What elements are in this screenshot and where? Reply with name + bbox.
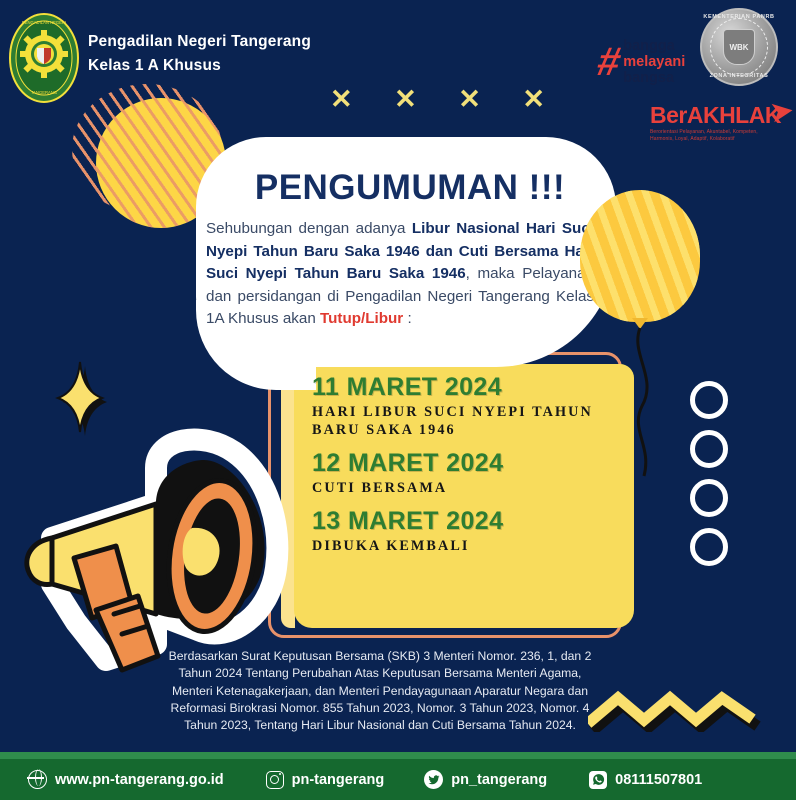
date-heading: 12 MARET 2024: [312, 448, 612, 479]
berakhlak-logo: BerAKHLAK ➤ Berorientasi Pelayanan, Akun…: [650, 104, 781, 143]
date-description: CUTI BERSAMA: [312, 479, 612, 497]
institution-title: Pengadilan Negeri Tangerang Kelas 1 A Kh…: [88, 30, 311, 78]
date-heading: 11 MARET 2024: [312, 372, 612, 403]
ring-decoration: [690, 528, 728, 566]
berakhlak-title: BerAKHLAK: [650, 104, 781, 127]
legal-footnote: Berdasarkan Surat Keputusan Bersama (SKB…: [160, 648, 600, 735]
wbk-shield-icon: WBK: [723, 29, 755, 65]
x-mark-icon: ✕: [458, 86, 481, 113]
hash-icon: #: [595, 46, 624, 78]
whatsapp-icon: [589, 771, 607, 789]
date-entry: 13 MARET 2024 DIBUKA KEMBALI: [312, 506, 612, 555]
pengadilan-negeri-tangerang-seal-icon: PENGADILAN NEGERI TANGERANG: [8, 12, 80, 104]
footer-accent-strip: [0, 752, 796, 759]
x-mark-icon: ✕: [394, 86, 417, 113]
institution-line-2: Kelas 1 A Khusus: [88, 54, 311, 78]
announcement-intro: Sehubungan dengan adanya: [206, 220, 412, 237]
announcement-highlight: Tutup/Libur: [320, 310, 403, 327]
balloon-decoration: [580, 190, 700, 340]
date-heading: 13 MARET 2024: [312, 506, 612, 537]
x-mark-icon: ✕: [330, 86, 353, 113]
zona-integritas-bottom-text: ZONA INTEGRITAS: [710, 73, 769, 79]
globe-icon: [28, 770, 47, 789]
announcement-end: :: [403, 310, 411, 327]
zona-integritas-seal-icon: KEMENTERIAN PANRB WBK ZONA INTEGRITAS: [700, 8, 778, 86]
footer-instagram-label: pn-tangerang: [292, 772, 385, 788]
footer-website-label: www.pn-tangerang.go.id: [55, 772, 224, 788]
megaphone-icon: [6, 408, 296, 688]
bangga-word-2: melayani: [623, 54, 685, 70]
announcement-body: Sehubungan dengan adanya Libur Nasional …: [206, 218, 594, 331]
footer-instagram[interactable]: pn-tangerang: [266, 771, 385, 789]
date-entry: 11 MARET 2024 HARI LIBUR SUCI NYEPI TAHU…: [312, 372, 612, 439]
svg-text:PENGADILAN NEGERI: PENGADILAN NEGERI: [22, 20, 66, 25]
date-entry: 12 MARET 2024 CUTI BERSAMA: [312, 448, 612, 497]
bangga-word-3: bangsa: [623, 70, 685, 86]
date-description: HARI LIBUR SUCI NYEPI TAHUN BARU SAKA 19…: [312, 403, 612, 440]
bangga-word-1: bangga: [623, 38, 685, 54]
footer-website[interactable]: www.pn-tangerang.go.id: [28, 770, 224, 789]
institution-line-1: Pengadilan Negeri Tangerang: [88, 30, 311, 54]
footer-bar: www.pn-tangerang.go.id pn-tangerang pn_t…: [0, 759, 796, 800]
footer-twitter[interactable]: pn_tangerang: [424, 770, 547, 789]
zigzag-decoration: [588, 690, 763, 732]
footer-twitter-label: pn_tangerang: [451, 772, 547, 788]
bangga-melayani-bangsa-logo: # bangga melayani bangsa: [598, 38, 685, 87]
balloon-string-icon: [628, 326, 698, 486]
dates-list: 11 MARET 2024 HARI LIBUR SUCI NYEPI TAHU…: [312, 372, 612, 564]
berakhlak-subtitle: Berorientasi Pelayanan, Akuntabel, Kompe…: [650, 129, 768, 143]
footer-whatsapp-label: 08111507801: [615, 772, 702, 788]
svg-text:TANGERANG: TANGERANG: [31, 90, 57, 95]
x-marks-decoration: ✕ ✕ ✕ ✕: [330, 86, 545, 113]
twitter-icon: [424, 770, 443, 789]
announcement-poster: PENGADILAN NEGERI TANGERANG Pengadilan N…: [0, 0, 796, 800]
instagram-icon: [266, 771, 284, 789]
footer-whatsapp[interactable]: 08111507801: [589, 771, 702, 789]
date-description: DIBUKA KEMBALI: [312, 537, 612, 555]
x-mark-icon: ✕: [522, 86, 545, 113]
berakhlak-arrow-icon: ➤: [769, 95, 795, 129]
zona-integritas-top-text: KEMENTERIAN PANRB: [703, 14, 774, 20]
page-title: PENGUMUMAN !!!: [240, 168, 580, 208]
